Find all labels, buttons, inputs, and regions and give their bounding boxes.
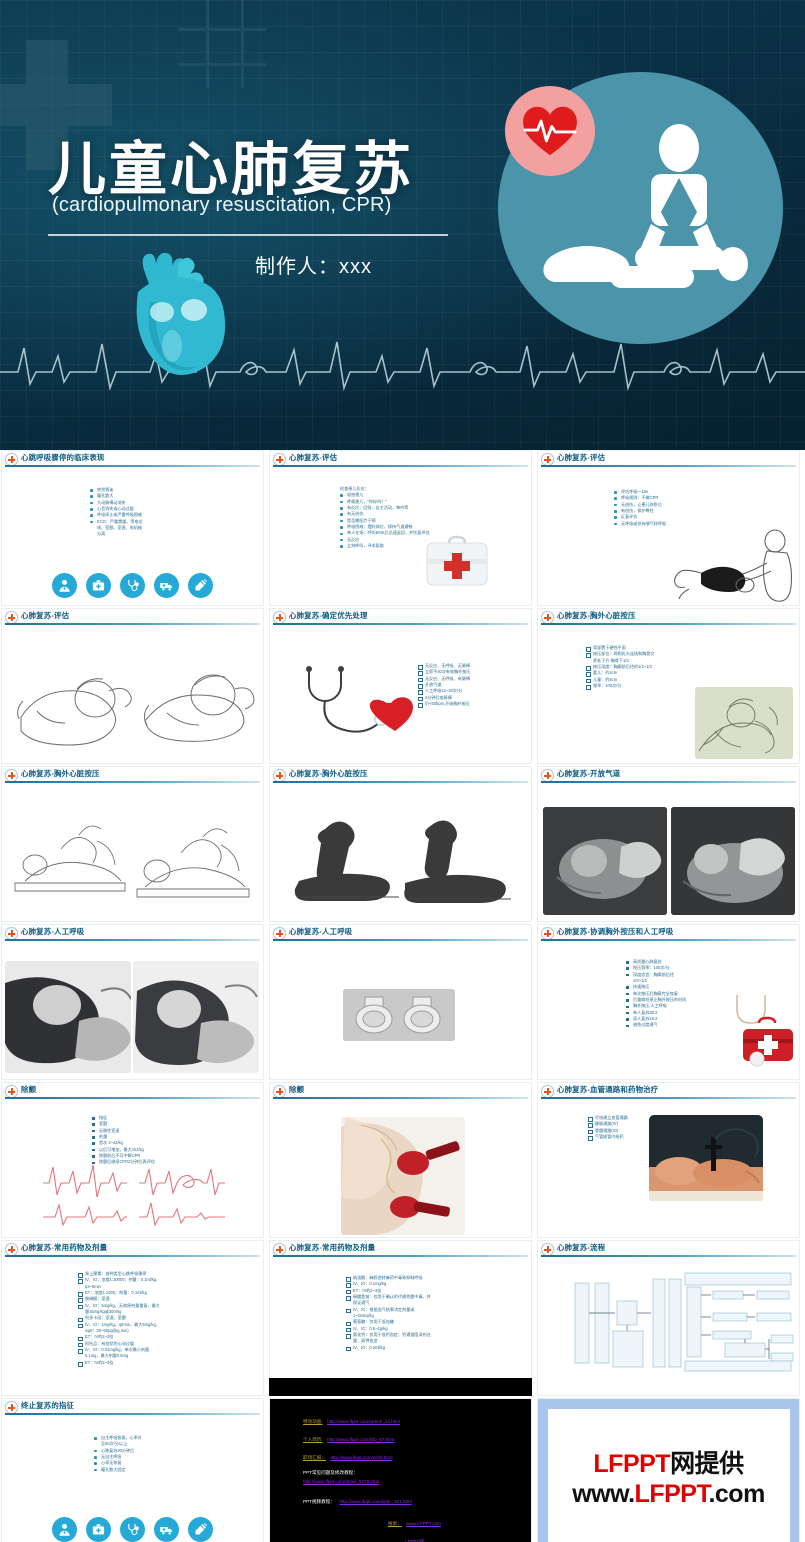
ecg-traces — [39, 1163, 229, 1227]
slide-title: 心肺复苏-血管通路和药物治疗 — [557, 1084, 658, 1095]
slide-title: 心肺复苏-人工呼吸 — [21, 926, 84, 937]
slide-body: 突然昏迷 瞳孔散大 大动脉搏动消失 心音消失或心动过缓 呼吸停止或严重呼吸困难 … — [1, 469, 264, 606]
title-underline — [541, 1097, 796, 1099]
title-underline — [5, 465, 260, 467]
syringe-icon[interactable] — [188, 1517, 213, 1542]
presentation-overview: 儿童心肺复苏 (cardiopulmonary resuscitation, C… — [0, 0, 805, 1542]
slide-header: 除颤 — [269, 1082, 532, 1101]
slide-title: 心肺复苏-胸外心脏按压 — [289, 768, 368, 779]
airway-opening-photo-right — [671, 807, 795, 915]
watermark-line-2: www.LFPPT.com — [572, 1480, 765, 1509]
watermark-url-pre: www. — [572, 1480, 634, 1508]
list-item: 立刻呼叫，寻求帮助 — [339, 543, 430, 549]
title-underline — [5, 1097, 260, 1099]
slide-thumbnail[interactable]: 心肺复苏-人工呼吸 — [1, 924, 264, 1080]
watermark-suffix: 网提供 — [670, 1450, 744, 1478]
slide-body: 纳洛酮：麻醉逆转麻药中毒致抑制呼吸 IV、IO：0.1mg/kg ET：IV的2… — [269, 1259, 532, 1396]
icon-row — [1, 573, 264, 598]
title-underline — [5, 939, 260, 941]
slide-header: 心肺复苏-评估 — [1, 608, 264, 627]
recovery-position-sketch — [667, 527, 799, 603]
slide-header: 心肺复苏-评估 — [537, 450, 800, 469]
link-url[interactable]: http://www.lfppt.com/zchb.html — [330, 1455, 392, 1460]
bullet-list: 无反应、无呼吸、无脉搏 立即予30次有效胸外按压 无反应、无呼吸、有脉搏 开放气… — [417, 663, 471, 707]
slide-header: 心肺复苏-流程 — [537, 1240, 800, 1259]
anatomical-heart-illustration — [116, 250, 241, 380]
title-underline — [5, 1255, 260, 1257]
link-label: 特效动画: — [303, 1419, 323, 1424]
slide-body — [1, 943, 264, 1080]
bullet-list: 尽快建立血管通路 静脉通路(IV) 骨髓通路(IO) 气管插管内给药 — [587, 1115, 628, 1140]
list-item: 无呼吸或仅有喘气样呼吸： — [613, 521, 670, 527]
medical-cross-icon-outline — [178, 0, 266, 88]
bullet-list: 评估呼吸—10s 呼吸规则：不做CPR 无创伤，让患儿侧卧位 有创伤，保护脊柱 … — [613, 489, 670, 527]
slide-row: 心肺复苏-胸外心脏按压 — [0, 766, 805, 924]
title-underline — [273, 939, 528, 941]
slide-thumbnail[interactable]: 心肺复苏-胸外心脏按压 背部置于硬性平面 按压部位：两侧乳头连线和胸骨交 界处下… — [537, 608, 800, 764]
title-underline — [5, 623, 260, 625]
link-label: 职场汇报： — [303, 1455, 326, 1460]
slide-body: 自主呼吸恢复，心率升 至60次/分以上 心肺复苏30分钟后 无自主呼吸 心率无恢… — [1, 1417, 264, 1542]
slide-title: 心肺复苏-开放气道 — [557, 768, 620, 779]
airway-opening-photo-left — [543, 807, 667, 915]
cpr-flowchart — [545, 1269, 795, 1379]
slide-header: 心肺复苏-常用药物及剂量 — [1, 1240, 264, 1259]
faq-url[interactable]: http://www.lfppt.com/detail_5278.html — [303, 1477, 526, 1486]
video-row[interactable]: PPT视频教程： http://www.lfppt.com/pptjc_101.… — [303, 1490, 526, 1508]
title-underline — [273, 1097, 528, 1099]
search-site-row[interactable]: LFPPT网 — [303, 1530, 526, 1542]
link-row[interactable]: 个人简历: http://www.lfppt.com/jldb_67.html — [303, 1428, 526, 1446]
title-underline — [541, 465, 796, 467]
slide-header: 心肺复苏-开放气道 — [537, 766, 800, 785]
slide-thumbnail[interactable]: 心肺复苏-人工呼吸 — [269, 924, 532, 1080]
slide-body — [269, 943, 532, 1080]
list-item: IV、IO：0.2ml/kg — [345, 1345, 431, 1351]
cover-author: 制作人：xxx — [255, 250, 372, 279]
compression-sketches-a — [5, 805, 261, 919]
link-row[interactable]: 职场汇报： http://www.lfppt.com/zchb.html — [303, 1446, 526, 1464]
list-item: 避免过度通气 — [625, 1022, 686, 1028]
links-block: 特效动画: http://www.lfppt.com/pptmb_14.html… — [303, 1410, 526, 1542]
search-row[interactable]: 搜索： www.LFPPT.com — [303, 1512, 526, 1530]
slide-header: 心肺复苏-协调胸外按压和人工呼吸 — [537, 924, 800, 943]
title-underline — [273, 1255, 528, 1257]
list-item: 瞳孔散大固定 — [93, 1467, 142, 1473]
slide-thumbnail[interactable]: 心肺复苏-评估 检查患儿反应： 轻拍患儿 呼唤患儿，"你好吗？" 有反应：回答、… — [269, 450, 532, 606]
slide-thumbnail[interactable]: 心肺复苏-血管通路和药物治疗 尽快建立血管通路 静脉通路(IV) 骨髓通路(IO… — [537, 1082, 800, 1238]
slide-title: 心跳呼吸骤停的临床表现 — [21, 452, 105, 463]
video-label: PPT视频教程： — [303, 1499, 335, 1504]
title-underline — [541, 781, 796, 783]
watermark-brand: LFPPT — [593, 1450, 670, 1478]
slide-title: 心肺复苏-协调胸外按压和人工呼吸 — [557, 926, 674, 937]
kit-stethoscope-photo — [723, 989, 799, 1073]
watermark-line-1: LFPPT网提供 — [593, 1444, 743, 1480]
slide-thumbnail[interactable]: 心肺复苏-协调胸外按压和人工呼吸 高质量心肺复苏 按压频率：100次/分 深度适… — [537, 924, 800, 1080]
title-underline — [273, 465, 528, 467]
slide-body — [537, 785, 800, 922]
slide-title: 心肺复苏-确定优先处理 — [289, 610, 368, 621]
slide-thumbnail[interactable]: 除颤 指征 室颤 无脉性室速 剂量 首次 2~4J/kg 以后可增加，最大10J… — [1, 1082, 264, 1238]
title-underline — [541, 623, 796, 625]
slide-thumbnail[interactable]: 心肺复苏-胸外心脏按压 — [269, 766, 532, 922]
slide-row: 心肺复苏-常用药物及剂量 肾上腺素：各种类型心跳呼吸骤停 IV、IO：浓度1:1… — [0, 1240, 805, 1398]
slide-header: 心肺复苏-胸外心脏按压 — [269, 766, 532, 785]
doctor-icon[interactable] — [52, 1517, 77, 1542]
list-item: 频率：100次/分 — [585, 683, 654, 689]
slide-body — [1, 627, 264, 764]
slide-thumbnail[interactable]: 心肺复苏-评估 — [1, 608, 264, 764]
stethoscope-icon[interactable] — [120, 573, 145, 598]
stethoscope-icon[interactable] — [120, 1517, 145, 1542]
bullet-list: 突然昏迷 瞳孔散大 大动脉搏动消失 心音消失或心动过缓 呼吸停止或严重呼吸困难 … — [89, 487, 143, 538]
slide-header: 心肺复苏-评估 — [269, 450, 532, 469]
doctor-icon[interactable] — [52, 573, 77, 598]
slide-thumbnail[interactable]: 心肺复苏-胸外心脏按压 — [1, 766, 264, 922]
syringe-icon[interactable] — [188, 573, 213, 598]
slide-body — [269, 1101, 532, 1238]
watermark-url-post: .com — [708, 1480, 764, 1508]
slide-title: 除颤 — [289, 1084, 304, 1095]
slide-row: 心肺复苏-人工呼吸 — [0, 924, 805, 1082]
title-underline — [5, 1413, 260, 1415]
mouth-to-mouth-photo-left — [5, 961, 131, 1073]
slide-row: 除颤 指征 室颤 无脉性室速 剂量 首次 2~4J/kg 以后可增加，最大10J… — [0, 1082, 805, 1240]
title-underline — [541, 939, 796, 941]
slide-title: 心肺复苏-胸外心脏按压 — [557, 610, 636, 621]
cover-slide: 儿童心肺复苏 (cardiopulmonary resuscitation, C… — [0, 0, 805, 450]
cover-divider — [48, 234, 448, 236]
slide-header: 除颤 — [1, 1082, 264, 1101]
bullet-list: 指征 室颤 无脉性室速 剂量 首次 2~4J/kg 以后可增加，最大10J/kg… — [91, 1115, 155, 1166]
slide-body: 评估呼吸—10s 呼吸规则：不做CPR 无创伤，让患儿侧卧位 有创伤，保护脊柱 … — [537, 469, 800, 606]
slide-row: 心肺复苏-评估 — [0, 608, 805, 766]
slide-header: 心跳呼吸骤停的临床表现 — [1, 450, 264, 469]
first-aid-kit-photo — [421, 531, 493, 595]
link-url[interactable]: http://www.lfppt.com/jldb_67.html — [327, 1437, 394, 1442]
slide-title: 心肺复苏-评估 — [557, 452, 605, 463]
video-url[interactable]: http://www.lfppt.com/pptjc_101.html — [339, 1499, 411, 1504]
bullet-list: 肾上腺素：各种类型心跳呼吸骤停 IV、IO：浓度1:10000；剂量：0.1ml… — [77, 1271, 160, 1366]
first-aid-kit-icon[interactable] — [86, 573, 111, 598]
stethoscope-heart-photo — [295, 661, 415, 747]
slide-body: 检查患儿反应： 轻拍患儿 呼唤患儿，"你好吗？" 有反应：回答、自主活动、呻吟等… — [269, 469, 532, 606]
list-item: 气管插管内给药 — [587, 1134, 628, 1140]
slide-thumbnail[interactable]: 终止复苏的指征 自主呼吸恢复，心率升 至60次/分以上 心肺复苏30分钟后 无自… — [1, 1398, 264, 1542]
slide-title: 心肺复苏-常用药物及剂量 — [289, 1242, 375, 1253]
slide-thumbnail[interactable]: 心肺复苏-评估 评估呼吸—10s 呼吸规则：不做CPR 无创伤，让患儿侧卧位 有… — [537, 450, 800, 606]
slide-thumbnail[interactable]: 心肺复苏-流程 — [537, 1240, 800, 1396]
slide-header: 心肺复苏-人工呼吸 — [269, 924, 532, 943]
slide-title: 除颤 — [21, 1084, 36, 1095]
bullet-list: 检查患儿反应： 轻拍患儿 呼唤患儿，"你好吗？" 有反应：回答、自主活动、呻吟等… — [339, 486, 430, 549]
title-underline — [273, 781, 528, 783]
slide-body: 无反应、无呼吸、无脉搏 立即予30次有效胸外按压 无反应、无呼吸、有脉搏 开放气… — [269, 627, 532, 764]
slide-body: 背部置于硬性平面 按压部位：两侧乳头连线和胸骨交 界处下方-胸骨下1/3 按压深… — [537, 627, 800, 764]
link-row[interactable]: 特效动画: http://www.lfppt.com/pptmb_14.html — [303, 1410, 526, 1428]
slide-body: 尽快建立血管通路 静脉通路(IV) 骨髓通路(IO) 气管插管内给药 — [537, 1101, 800, 1238]
title-underline — [5, 781, 260, 783]
slide-header: 心肺复苏-常用药物及剂量 — [269, 1240, 532, 1259]
list-item: 分离 — [89, 531, 143, 537]
slide-thumbnail-grid: 心跳呼吸骤停的临床表现 突然昏迷 瞳孔散大 大动脉搏动消失 心音消失或心动过缓 … — [0, 450, 805, 1542]
ambulance-icon[interactable] — [154, 573, 179, 598]
slide-thumbnail[interactable]: 心肺复苏-确定优先处理 无反应、无呼吸、无脉搏 立即予30次有效胸外按压 无反应… — [269, 608, 532, 764]
bag-mask-photo — [343, 989, 455, 1041]
slide-body — [1, 785, 264, 922]
slide-title: 心肺复苏-评估 — [21, 610, 69, 621]
bullet-list: 纳洛酮：麻醉逆转麻药中毒致抑制呼吸 IV、IO：0.1mg/kg ET：IV的2… — [345, 1275, 431, 1351]
bullet-list: 高质量心肺复苏 按压频率：100次/分 深度适宜：胸廓前后径 1/3~1/2 快… — [625, 959, 686, 1029]
links-slide-thumbnail[interactable]: 特效动画: http://www.lfppt.com/pptmb_14.html… — [269, 1398, 532, 1542]
defib-paddles-photo — [341, 1117, 465, 1235]
slide-body: 肾上腺素：各种类型心跳呼吸骤停 IV、IO：浓度1:10000；剂量：0.1ml… — [1, 1259, 264, 1396]
slide-thumbnail[interactable]: 除颤 — [269, 1082, 532, 1238]
slide-header: 心肺复苏-胸外心脏按压 — [537, 608, 800, 627]
heart-pulse-icon — [521, 105, 579, 157]
infant-compression-sketch — [695, 687, 793, 759]
compression-sketches-b — [279, 809, 527, 919]
search-label: 搜索： — [388, 1521, 402, 1526]
slide-thumbnail[interactable]: 心肺复苏-开放气道 — [537, 766, 800, 922]
slide-footer-bar — [269, 1378, 532, 1396]
slide-title: 心肺复苏-流程 — [557, 1242, 605, 1253]
airway-sketch-pair — [7, 651, 257, 761]
slide-thumbnail[interactable]: 心肺复苏-常用药物及剂量 纳洛酮：麻醉逆转麻药中毒致抑制呼吸 IV、IO：0.1… — [269, 1240, 532, 1396]
ambulance-icon[interactable] — [154, 1517, 179, 1542]
bullet-list: 自主呼吸恢复，心率升 至60次/分以上 心肺复苏30分钟后 无自主呼吸 心率无恢… — [93, 1435, 142, 1473]
mouth-to-mouth-photo-right — [133, 961, 259, 1073]
slide-header: 心肺复苏-血管通路和药物治疗 — [537, 1082, 800, 1101]
slide-body: 高质量心肺复苏 按压频率：100次/分 深度适宜：胸廓前后径 1/3~1/2 快… — [537, 943, 800, 1080]
list-item: 仍<60bpm,开始胸外按压 — [417, 701, 471, 707]
link-url[interactable]: http://www.lfppt.com/pptmb_14.html — [327, 1419, 400, 1424]
slide-header: 终止复苏的指征 — [1, 1398, 264, 1417]
slide-thumbnail[interactable]: 心肺复苏-常用药物及剂量 肾上腺素：各种类型心跳呼吸骤停 IV、IO：浓度1:1… — [1, 1240, 264, 1396]
faq-label: PPT常见问题及修改教程： — [303, 1468, 526, 1477]
slide-row: 心跳呼吸骤停的临床表现 突然昏迷 瞳孔散大 大动脉搏动消失 心音消失或心动过缓 … — [0, 450, 805, 608]
watermark-inner: LFPPT网提供 www.LFPPT.com — [548, 1409, 790, 1542]
link-label: 个人简历: — [303, 1437, 323, 1442]
slide-title: 终止复苏的指征 — [21, 1400, 74, 1411]
slide-header: 心肺复苏-人工呼吸 — [1, 924, 264, 943]
io-access-photo — [649, 1115, 763, 1201]
slide-title: 心肺复苏-胸外心脏按压 — [21, 768, 100, 779]
cover-subtitle: (cardiopulmonary resuscitation, CPR) — [52, 194, 392, 217]
slide-header: 心肺复苏-胸外心脏按压 — [1, 766, 264, 785]
heartbeat-badge — [505, 86, 595, 176]
icon-row — [1, 1517, 264, 1542]
slide-body — [537, 1259, 800, 1396]
slide-row: 终止复苏的指征 自主呼吸恢复，心率升 至60次/分以上 心肺复苏30分钟后 无自… — [0, 1398, 805, 1542]
title-underline — [273, 623, 528, 625]
first-aid-kit-icon[interactable] — [86, 1517, 111, 1542]
slide-body — [269, 785, 532, 922]
search-url[interactable]: www.LFPPT.com — [406, 1521, 441, 1526]
slide-thumbnail[interactable]: 心跳呼吸骤停的临床表现 突然昏迷 瞳孔散大 大动脉搏动消失 心音消失或心动过缓 … — [1, 450, 264, 606]
title-underline — [541, 1255, 796, 1257]
list-item: ET：IV的2~3倍 — [77, 1360, 160, 1366]
slide-header: 心肺复苏-确定优先处理 — [269, 608, 532, 627]
slide-title: 心肺复苏-评估 — [289, 452, 337, 463]
watermark-url-brand: LFPPT — [635, 1480, 709, 1508]
slide-title: 心肺复苏-人工呼吸 — [289, 926, 352, 937]
watermark-slide[interactable]: LFPPT网提供 www.LFPPT.com — [537, 1398, 800, 1542]
slide-body: 指征 室颤 无脉性室速 剂量 首次 2~4J/kg 以后可增加，最大10J/kg… — [1, 1101, 264, 1238]
slide-title: 心肺复苏-常用药物及剂量 — [21, 1242, 107, 1253]
bullet-list: 背部置于硬性平面 按压部位：两侧乳头连线和胸骨交 界处下方-胸骨下1/3 按压深… — [585, 645, 654, 689]
